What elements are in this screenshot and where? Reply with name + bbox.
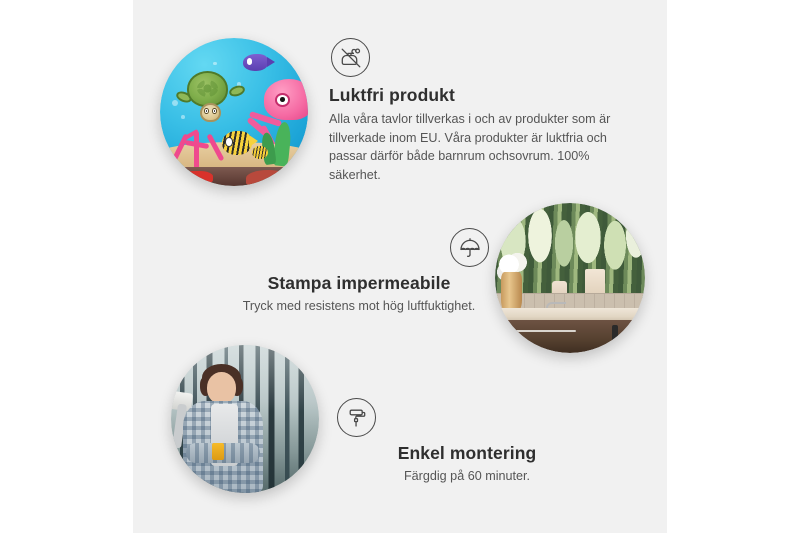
foreground-band	[160, 167, 308, 186]
octopus-eye	[275, 93, 290, 107]
feature-block-easy-mounting: Enkel montering Färgdig på 60 minuter.	[329, 398, 605, 486]
yellow-fish-icon	[222, 131, 252, 155]
feature-title: Luktfri produkt	[329, 85, 629, 106]
bubble-icon	[172, 100, 178, 106]
coral-branch	[194, 131, 200, 170]
coral-illustration	[172, 119, 222, 169]
purple-fish-icon	[243, 54, 268, 70]
paint-tool	[212, 443, 224, 461]
turtle-eye	[204, 108, 208, 114]
feature-block-waterproof: Stampa impermeabile Tryck med resistens …	[221, 228, 497, 316]
feature-block-odourless: Luktfri produkt Alla våra tavlor tillver…	[329, 38, 629, 185]
installer-photo	[171, 345, 319, 493]
feature-description: Alla våra tavlor tillverkas i och av pro…	[329, 110, 629, 185]
turtle-shell	[187, 71, 229, 107]
turtle-eye	[212, 108, 216, 114]
content-canvas: Luktfri produkt Alla våra tavlor tillver…	[133, 0, 667, 533]
person-head	[207, 372, 237, 405]
product-feature-infographic: Luktfri produkt Alla våra tavlor tillver…	[0, 0, 800, 533]
turtle-illustration	[184, 71, 237, 115]
bubble-icon	[181, 115, 185, 119]
feature-image-easy-mounting	[171, 345, 319, 493]
octopus-head	[264, 79, 308, 119]
feature-description: Tryck med resistens mot hög luftfuktighe…	[221, 297, 497, 316]
underwater-scene-illustration	[160, 38, 308, 186]
feature-image-waterproof	[495, 203, 645, 353]
umbrella-icon	[450, 228, 489, 267]
feature-title: Enkel montering	[329, 443, 605, 464]
feature-image-odourless	[160, 38, 308, 186]
wooden-vanity	[495, 320, 645, 353]
feature-description: Färgdig på 60 minuter.	[329, 467, 605, 486]
bathroom-photo	[495, 203, 645, 353]
feature-title: Stampa impermeabile	[221, 273, 497, 294]
no-fragrance-icon	[331, 38, 370, 77]
paint-roller-icon	[337, 398, 376, 437]
bubble-icon	[213, 62, 217, 66]
